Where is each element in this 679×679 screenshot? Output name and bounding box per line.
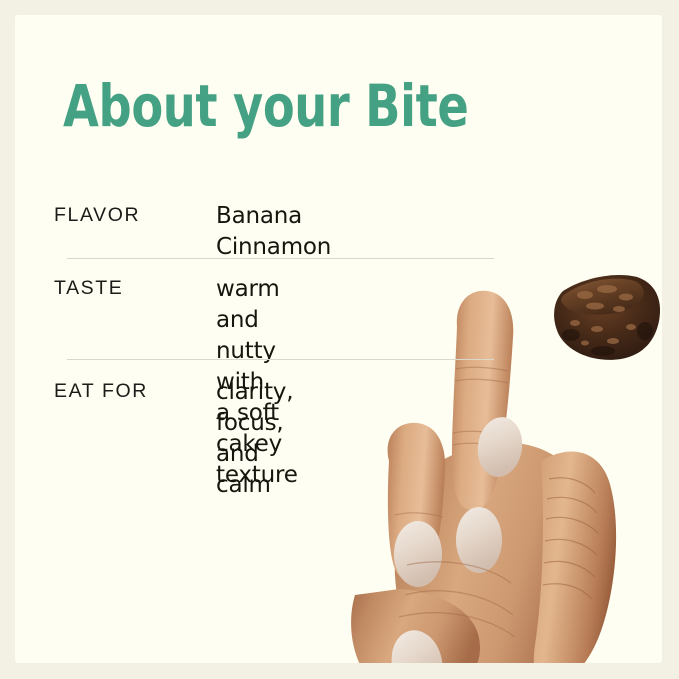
card-inner-panel: About your Bite FLAVOR Banana Cinnamon T… [15, 15, 662, 663]
product-info-card: About your Bite FLAVOR Banana Cinnamon T… [0, 0, 679, 679]
spec-label-taste: TASTE [54, 277, 123, 300]
spec-divider-1 [67, 258, 494, 259]
spec-label-flavor: FLAVOR [54, 204, 140, 227]
spec-list: FLAVOR Banana Cinnamon TASTE warm and nu… [15, 15, 662, 663]
spec-value-flavor: Banana Cinnamon [216, 201, 331, 263]
spec-divider-2 [67, 359, 494, 360]
spec-label-eat-for: EAT FOR [54, 380, 148, 403]
spec-value-eat-for: clarity, focus, and calm [216, 377, 293, 501]
